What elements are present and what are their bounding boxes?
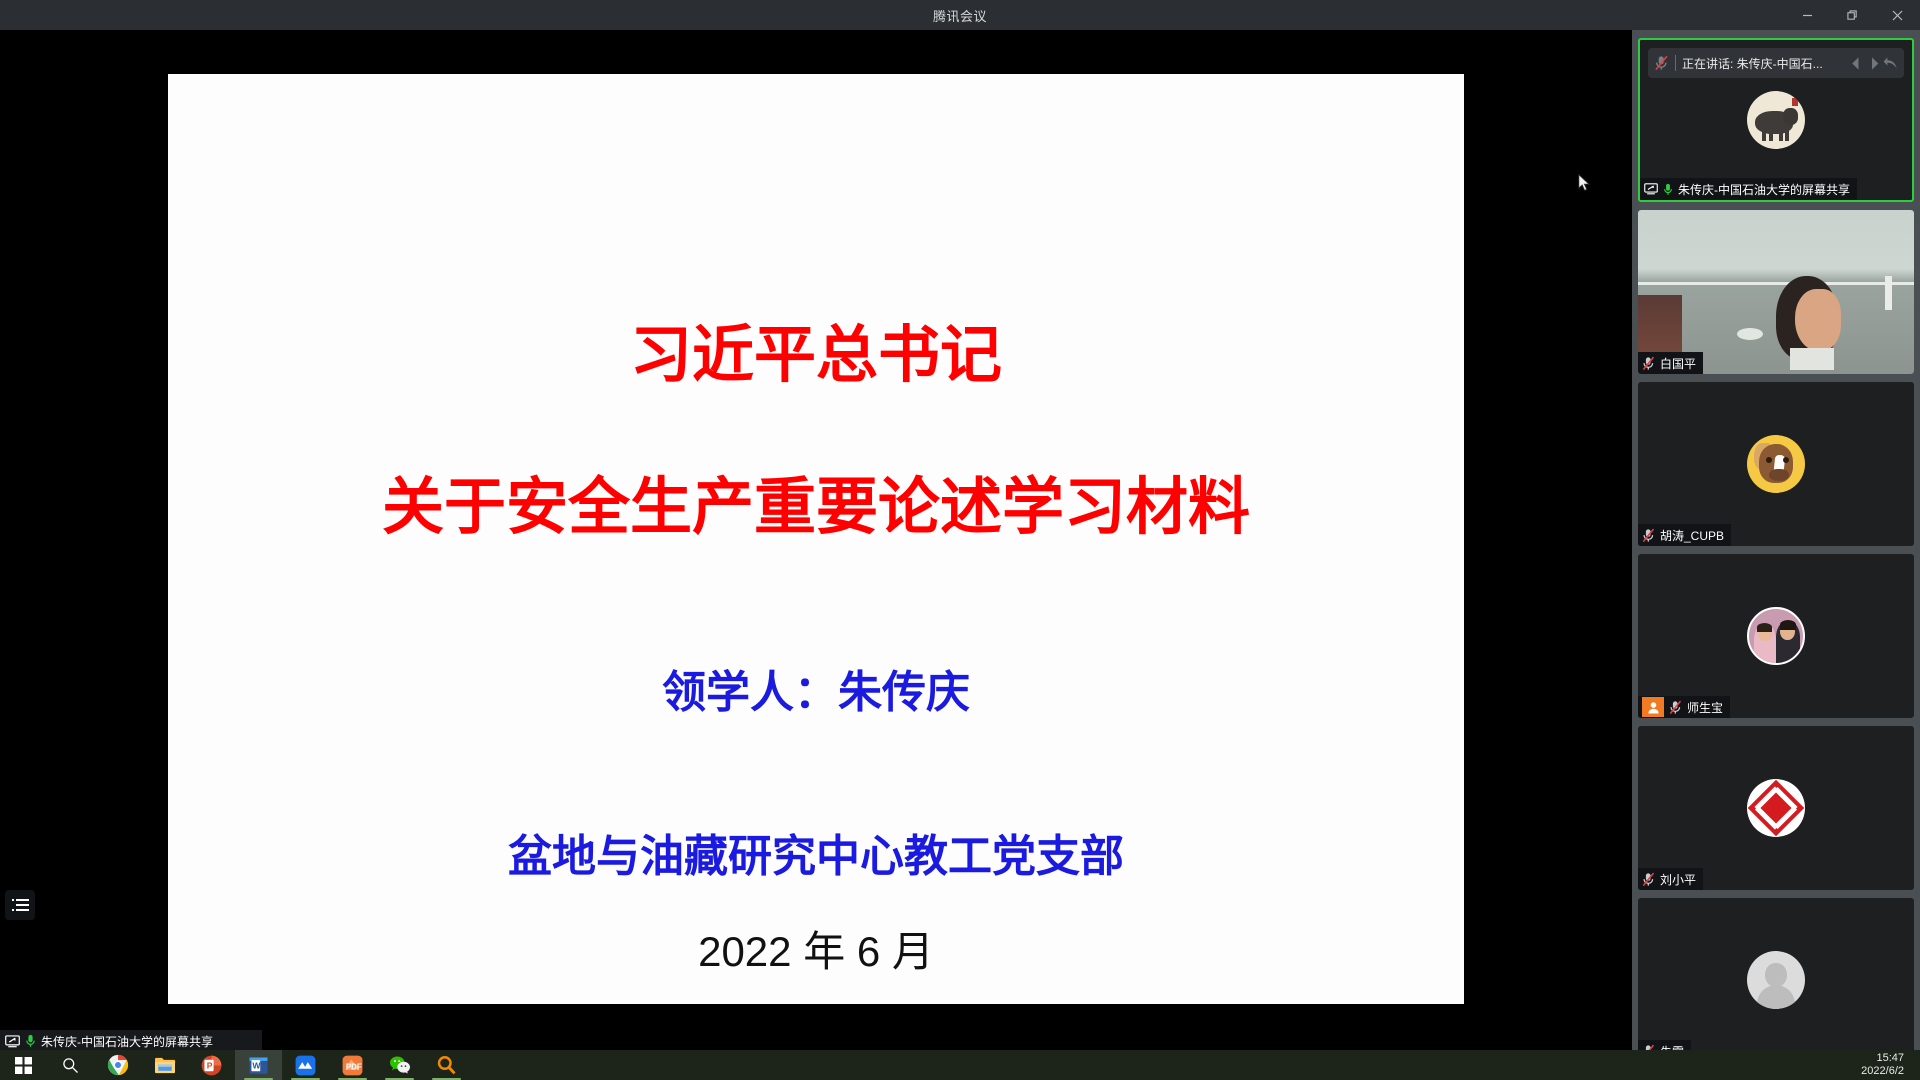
mouse-cursor bbox=[1578, 174, 1590, 192]
slide-title-line-1: 习近平总书记 bbox=[630, 304, 1002, 394]
folder-icon bbox=[154, 1055, 176, 1075]
speak-bar-divider bbox=[1675, 55, 1676, 71]
avatar-area bbox=[1638, 554, 1914, 718]
participant-tile-4[interactable]: 刘小平 bbox=[1638, 726, 1914, 890]
window-controls bbox=[1785, 0, 1920, 30]
windows-taskbar[interactable]: P W PDF bbox=[0, 1050, 1920, 1080]
word-button[interactable]: W bbox=[235, 1050, 282, 1080]
participant-name-4: 刘小平 bbox=[1660, 871, 1696, 888]
participant-tile-2[interactable]: 胡涛_CUPB bbox=[1638, 382, 1914, 546]
powerpoint-icon: P bbox=[201, 1055, 222, 1076]
host-badge-icon bbox=[1642, 697, 1664, 717]
chrome-icon bbox=[107, 1054, 129, 1076]
participant-name-0: 朱传庆-中国石油大学的屏幕共享 bbox=[1678, 181, 1850, 198]
search-icon bbox=[62, 1057, 79, 1074]
participant-panel[interactable]: 正在讲话: 朱传庆-中国石... bbox=[1632, 30, 1920, 1050]
minimize-button[interactable] bbox=[1785, 0, 1830, 30]
restore-button[interactable] bbox=[1830, 0, 1875, 30]
ox-painting-avatar bbox=[1747, 91, 1805, 149]
microphone-muted-icon bbox=[1654, 55, 1669, 71]
participant-name-5: 朱雷 bbox=[1660, 1043, 1684, 1051]
avatar-area bbox=[1638, 898, 1914, 1050]
windows-logo-icon bbox=[15, 1057, 32, 1074]
participant-tile-1[interactable]: 白国平 bbox=[1638, 210, 1914, 374]
start-button[interactable] bbox=[0, 1050, 47, 1080]
word-icon: W bbox=[248, 1055, 269, 1076]
participant-tile-3[interactable]: 师生宝 bbox=[1638, 554, 1914, 718]
magnifier-icon bbox=[436, 1055, 457, 1076]
slide-date: 2022 年 6 月 bbox=[698, 918, 934, 979]
window-title-bar: 腾讯会议 bbox=[0, 0, 1920, 30]
speaking-indicator-bar[interactable]: 正在讲话: 朱传庆-中国石... bbox=[1648, 48, 1904, 78]
wechat-icon bbox=[389, 1055, 411, 1075]
svg-text:PDF: PDF bbox=[346, 1062, 362, 1071]
horse-cartoon-avatar bbox=[1747, 435, 1805, 493]
participant-tile-5[interactable]: 朱雷 bbox=[1638, 898, 1914, 1050]
svg-text:P: P bbox=[207, 1060, 213, 1070]
participant-name-badge-5: 朱雷 bbox=[1638, 1040, 1691, 1050]
speak-bar-controls[interactable] bbox=[1851, 56, 1898, 71]
participant-video-feed bbox=[1638, 210, 1914, 374]
file-explorer-button[interactable] bbox=[141, 1050, 188, 1080]
slide-presenter: 领学人：朱传庆 bbox=[662, 656, 970, 720]
slide-title-line-2: 关于安全生产重要论述学习材料 bbox=[382, 456, 1250, 546]
microphone-muted-icon bbox=[1642, 356, 1655, 371]
participant-name-3: 师生宝 bbox=[1687, 699, 1723, 716]
microphone-muted-icon bbox=[1642, 528, 1655, 543]
search-button[interactable] bbox=[47, 1050, 94, 1080]
shared-screen-stage[interactable]: 习近平总书记 关于安全生产重要论述学习材料 领学人：朱传庆 盆地与油藏研究中心教… bbox=[0, 30, 1632, 1050]
slide-organization: 盆地与油藏研究中心教工党支部 bbox=[508, 820, 1124, 884]
screen-share-icon bbox=[1644, 183, 1658, 195]
microphone-muted-icon bbox=[1669, 700, 1682, 715]
participant-name-badge-3: 师生宝 bbox=[1638, 696, 1730, 718]
red-papercut-avatar bbox=[1747, 779, 1805, 837]
close-button[interactable] bbox=[1875, 0, 1920, 30]
microphone-icon bbox=[1663, 183, 1673, 196]
chevron-collapse-icon[interactable] bbox=[1851, 56, 1864, 71]
list-menu-icon[interactable] bbox=[5, 890, 35, 920]
clock-date: 2022/6/2 bbox=[1861, 1065, 1904, 1078]
taskbar-clock[interactable]: 15:47 2022/6/2 bbox=[1861, 1050, 1904, 1080]
avatar-area bbox=[1638, 382, 1914, 546]
microphone-muted-icon bbox=[1642, 872, 1655, 887]
participant-name-2: 胡涛_CUPB bbox=[1660, 527, 1724, 544]
svg-text:W: W bbox=[252, 1060, 261, 1070]
clock-time: 15:47 bbox=[1876, 1052, 1904, 1065]
participant-name-badge-0: 朱传庆-中国石油大学的屏幕共享 bbox=[1640, 178, 1857, 200]
pdf-icon: PDF bbox=[342, 1055, 363, 1076]
speaking-label: 正在讲话: 朱传庆-中国石... bbox=[1682, 55, 1845, 72]
presentation-slide: 习近平总书记 关于安全生产重要论述学习材料 领学人：朱传庆 盆地与油藏研究中心教… bbox=[168, 74, 1464, 1004]
back-arrow-icon[interactable] bbox=[1883, 56, 1898, 71]
participant-name-badge-2: 胡涛_CUPB bbox=[1638, 524, 1731, 546]
chevron-expand-icon[interactable] bbox=[1867, 56, 1880, 71]
share-banner-label: 朱传庆-中国石油大学的屏幕共享 bbox=[41, 1033, 213, 1050]
wechat-button[interactable] bbox=[376, 1050, 423, 1080]
powerpoint-button[interactable]: P bbox=[188, 1050, 235, 1080]
participant-name-badge-1: 白国平 bbox=[1638, 352, 1703, 374]
app-title: 腾讯会议 bbox=[933, 6, 987, 25]
participant-name-badge-4: 刘小平 bbox=[1638, 868, 1703, 890]
pdf-button[interactable]: PDF bbox=[329, 1050, 376, 1080]
avatar-area bbox=[1638, 726, 1914, 890]
tencent-meeting-icon bbox=[295, 1055, 316, 1076]
participant-name-1: 白国平 bbox=[1660, 355, 1696, 372]
two-children-photo-avatar bbox=[1747, 607, 1805, 665]
tencent-meeting-button[interactable] bbox=[282, 1050, 329, 1080]
participant-tile-0[interactable]: 正在讲话: 朱传庆-中国石... bbox=[1638, 38, 1914, 202]
chrome-button[interactable] bbox=[94, 1050, 141, 1080]
default-person-avatar bbox=[1747, 951, 1805, 1009]
microphone-icon bbox=[25, 1034, 36, 1048]
everything-search-button[interactable] bbox=[423, 1050, 470, 1080]
screen-share-banner: 朱传庆-中国石油大学的屏幕共享 bbox=[0, 1030, 262, 1052]
screen-share-icon bbox=[5, 1035, 20, 1048]
